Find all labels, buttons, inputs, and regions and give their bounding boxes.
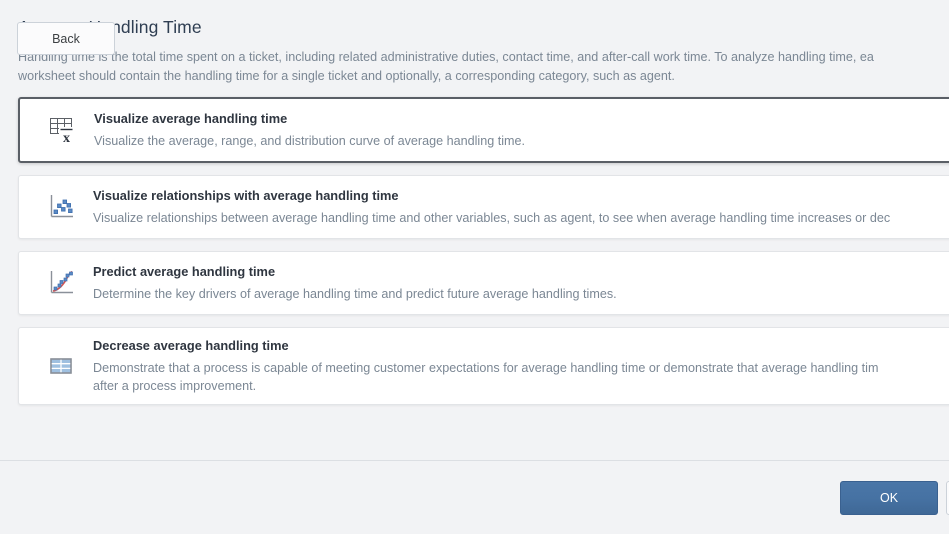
dialog-header: Average Handling Time Handling time is t… xyxy=(0,0,949,85)
option-card-predict-average-handling-time[interactable]: Predict average handling time Determine … xyxy=(18,251,949,315)
page-title: Average Handling Time xyxy=(18,16,931,38)
option-description: Determine the key drivers of average han… xyxy=(93,285,949,304)
option-description: Visualize relationships between average … xyxy=(93,209,949,228)
option-description-line-1: Determine the key drivers of average han… xyxy=(93,287,617,301)
option-card-text: Decrease average handling time Demonstra… xyxy=(89,327,949,406)
svg-text:x: x xyxy=(63,131,70,145)
scatter-plot-icon xyxy=(19,192,89,222)
option-description-line-1: Visualize relationships between average … xyxy=(93,211,890,225)
page-description: Handling time is the total time spent on… xyxy=(18,48,931,85)
option-description: Demonstrate that a process is capable of… xyxy=(93,359,949,396)
option-card-visualize-relationships[interactable]: Visualize relationships with average han… xyxy=(18,175,949,239)
regression-curve-icon xyxy=(19,268,89,298)
dialog-footer xyxy=(0,460,949,534)
page-description-line-1: Handling time is the total time spent on… xyxy=(18,50,874,64)
option-title: Visualize relationships with average han… xyxy=(93,187,949,205)
page-description-line-2: worksheet should contain the handling ti… xyxy=(18,67,931,86)
option-title: Predict average handling time xyxy=(93,263,949,281)
option-description-line-1: Visualize the average, range, and distri… xyxy=(94,134,525,148)
ok-button[interactable]: OK xyxy=(840,481,938,515)
option-card-text: Visualize average handling time Visualiz… xyxy=(90,100,949,161)
average-handling-time-dialog: Average Handling Time Handling time is t… xyxy=(0,0,949,534)
option-title: Visualize average handling time xyxy=(94,110,949,128)
option-card-visualize-average-handling-time[interactable]: x Visualize average handling time Visual… xyxy=(18,97,949,163)
option-description-line-1: Demonstrate that a process is capable of… xyxy=(93,361,878,375)
option-card-text: Predict average handling time Determine … xyxy=(89,253,949,314)
option-card-decrease-average-handling-time[interactable]: Decrease average handling time Demonstra… xyxy=(18,327,949,405)
option-title: Decrease average handling time xyxy=(93,337,949,355)
option-list: x Visualize average handling time Visual… xyxy=(0,85,949,460)
option-description: Visualize the average, range, and distri… xyxy=(94,132,949,151)
filled-table-icon xyxy=(19,351,89,381)
option-description-line-2: after a process improvement. xyxy=(93,377,949,396)
back-button[interactable]: Back xyxy=(17,22,115,55)
table-xbar-icon: x xyxy=(20,115,90,145)
option-card-text: Visualize relationships with average han… xyxy=(89,177,949,238)
